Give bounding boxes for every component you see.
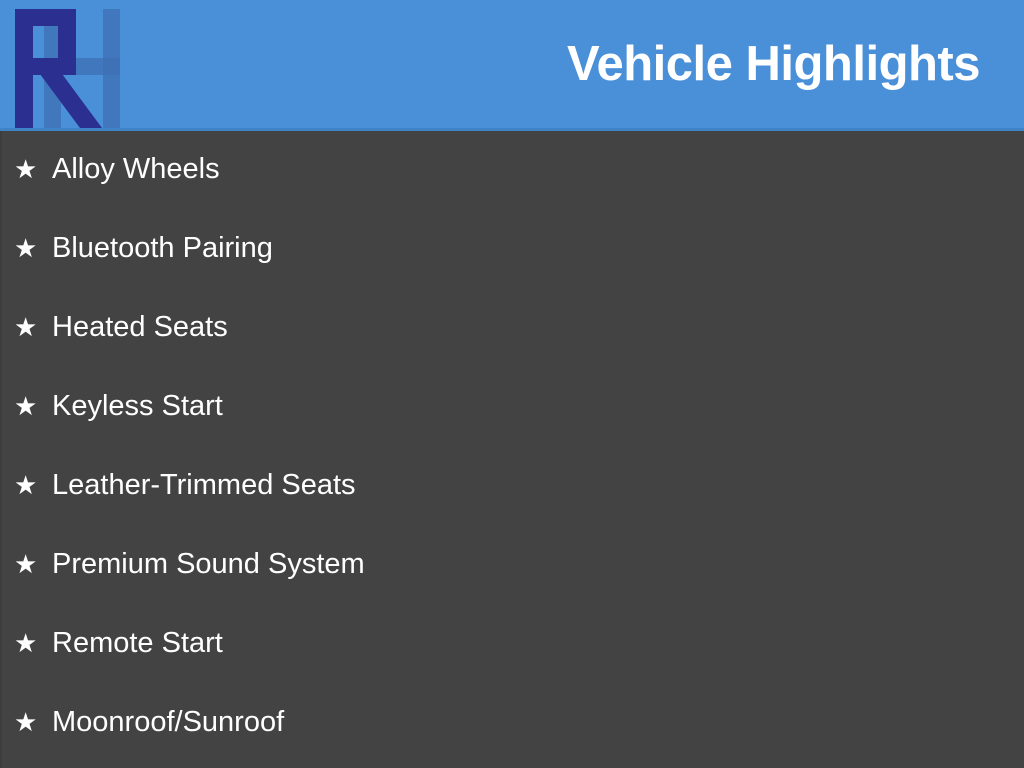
slide-header: Vehicle Highlights — [0, 0, 1024, 131]
star-icon: ★ — [14, 235, 52, 261]
rh-monogram-logo — [10, 3, 140, 130]
list-item-label: Alloy Wheels — [52, 155, 220, 184]
list-item: ★ Premium Sound System — [14, 544, 365, 584]
slide-canvas: Vehicle Highlights ★ Alloy Wheels ★ Blue… — [0, 0, 1024, 768]
list-item-label: Heated Seats — [52, 313, 228, 342]
star-icon: ★ — [14, 472, 52, 498]
star-icon: ★ — [14, 314, 52, 340]
slide-body: ★ Alloy Wheels ★ Bluetooth Pairing ★ Hea… — [0, 131, 1024, 768]
list-item: ★ Leather-Trimmed Seats — [14, 465, 356, 505]
star-icon: ★ — [14, 393, 52, 419]
list-item: ★ Heated Seats — [14, 307, 228, 347]
list-item-label: Leather-Trimmed Seats — [52, 471, 356, 500]
page-title: Vehicle Highlights — [567, 0, 980, 128]
list-item-label: Remote Start — [52, 629, 223, 658]
list-item-label: Moonroof/Sunroof — [52, 708, 284, 737]
list-item: ★ Alloy Wheels — [14, 149, 220, 189]
list-item-label: Premium Sound System — [52, 550, 365, 579]
list-item: ★ Bluetooth Pairing — [14, 228, 273, 268]
star-icon: ★ — [14, 551, 52, 577]
star-icon: ★ — [14, 630, 52, 656]
star-icon: ★ — [14, 156, 52, 182]
list-item-label: Keyless Start — [52, 392, 223, 421]
list-item: ★ Moonroof/Sunroof — [14, 702, 284, 742]
list-item: ★ Keyless Start — [14, 386, 223, 426]
list-item-label: Bluetooth Pairing — [52, 234, 273, 263]
list-item: ★ Remote Start — [14, 623, 223, 663]
star-icon: ★ — [14, 709, 52, 735]
